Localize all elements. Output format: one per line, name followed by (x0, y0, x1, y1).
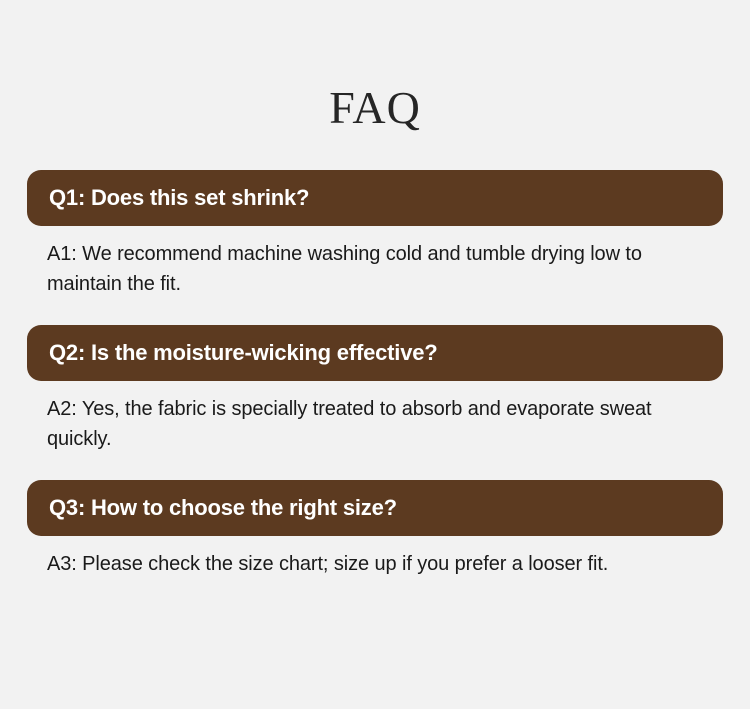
faq-question-bar-3[interactable]: Q3: How to choose the right size? (27, 480, 723, 536)
faq-answer-label-1: A1: We recommend machine washing cold an… (47, 239, 703, 299)
faq-list: Q1: Does this set shrink? A1: We recomme… (0, 170, 750, 579)
faq-question-bar-2[interactable]: Q2: Is the moisture-wicking effective? (27, 325, 723, 381)
faq-question-label-3: Q3: How to choose the right size? (49, 496, 397, 520)
faq-answer-label-3: A3: Please check the size chart; size up… (47, 549, 703, 579)
faq-item-3: Q3: How to choose the right size? A3: Pl… (0, 480, 750, 579)
faq-question-label-1: Q1: Does this set shrink? (49, 186, 309, 210)
faq-answer-label-2: A2: Yes, the fabric is specially treated… (47, 394, 697, 454)
faq-question-bar-1[interactable]: Q1: Does this set shrink? (27, 170, 723, 226)
faq-item-1: Q1: Does this set shrink? A1: We recomme… (0, 170, 750, 299)
faq-answer-block-1: A1: We recommend machine washing cold an… (47, 239, 703, 299)
faq-answer-block-2: A2: Yes, the fabric is specially treated… (47, 394, 703, 454)
faq-item-2: Q2: Is the moisture-wicking effective? A… (0, 325, 750, 454)
page-title: FAQ (0, 0, 750, 132)
faq-page: FAQ Q1: Does this set shrink? A1: We rec… (0, 0, 750, 709)
faq-answer-block-3: A3: Please check the size chart; size up… (47, 549, 703, 579)
faq-question-label-2: Q2: Is the moisture-wicking effective? (49, 341, 438, 365)
